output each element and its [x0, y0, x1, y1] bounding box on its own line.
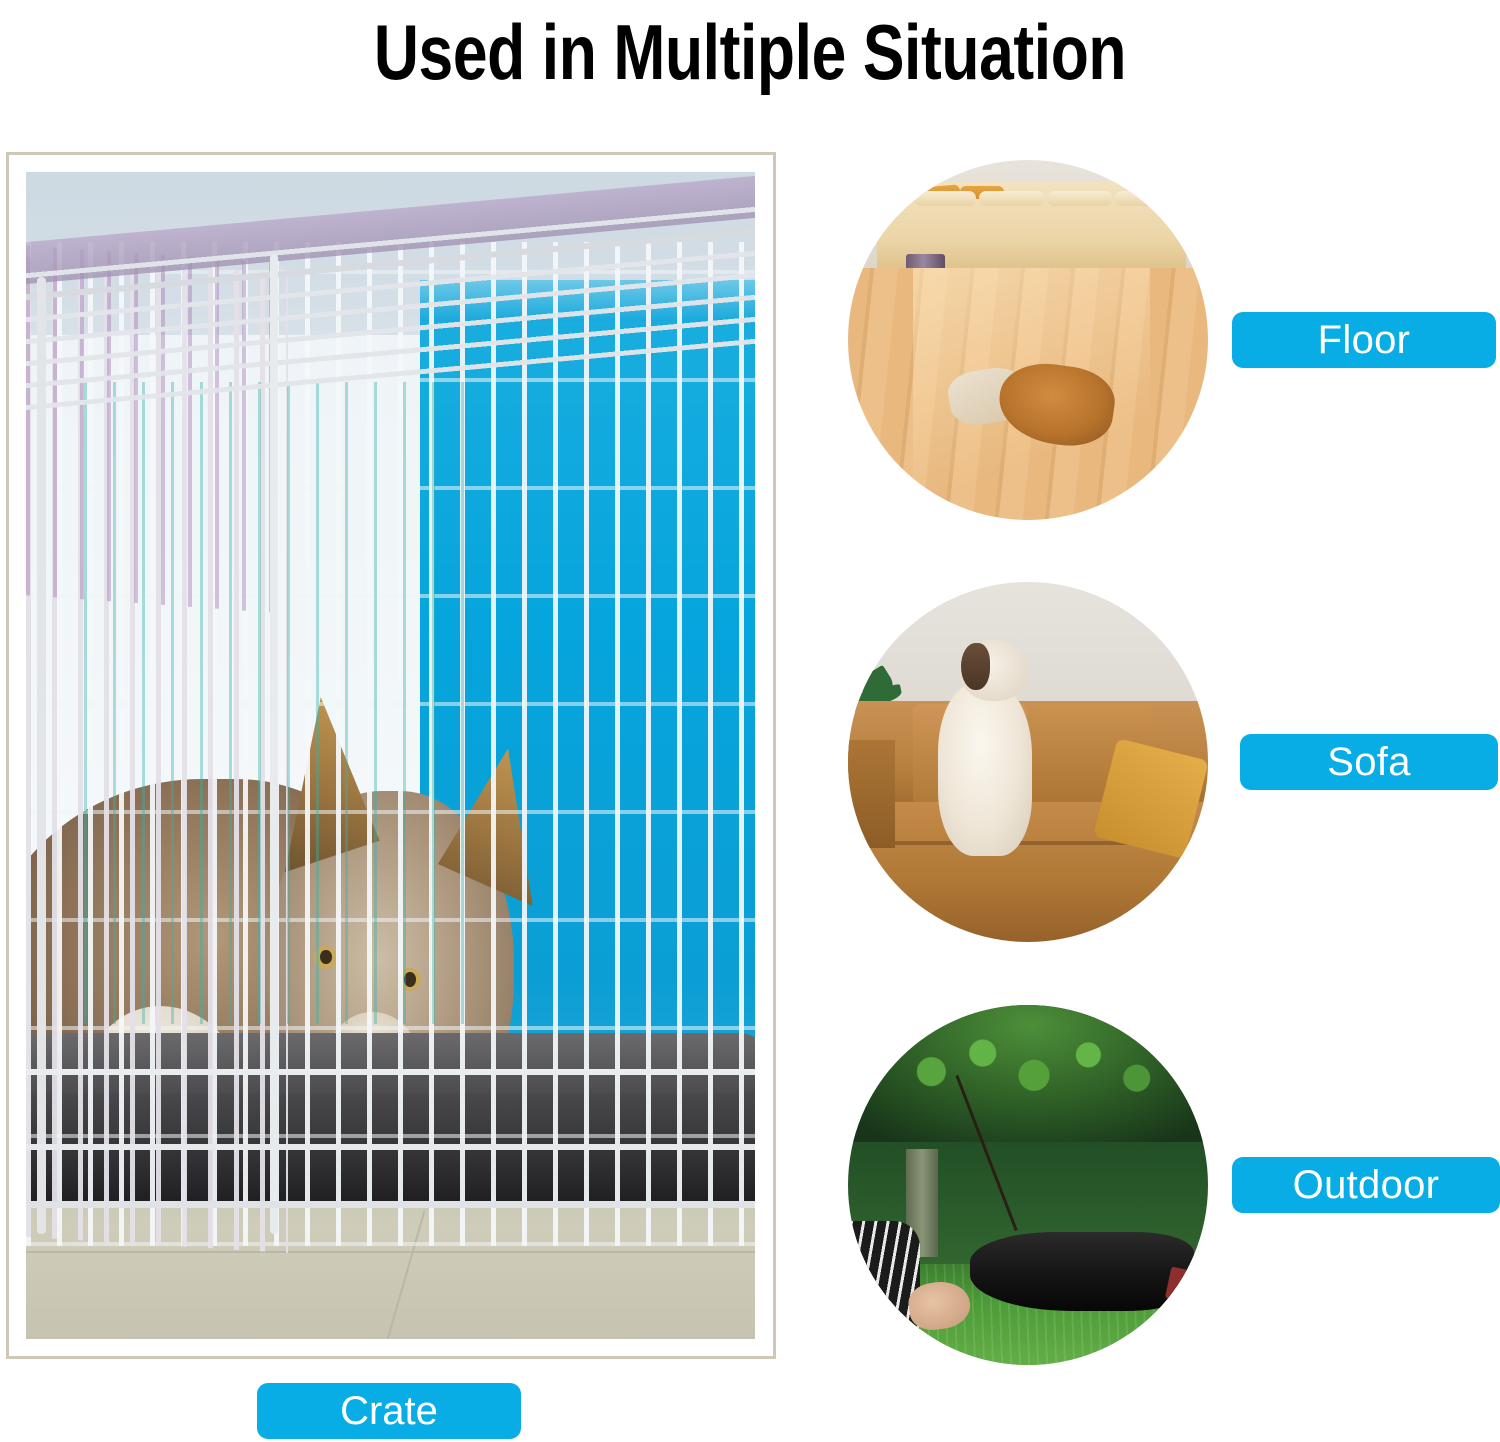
- outdoor-scene-icon: [848, 1005, 1208, 1365]
- crate-rail-middle: [26, 1144, 755, 1150]
- crate-left-post: [37, 277, 46, 1234]
- outdoor-black-dog: [970, 1232, 1193, 1311]
- crate-wire-teal-tint: [84, 382, 478, 1024]
- sofa-armrest: [848, 740, 895, 848]
- sofa-dog-ear: [961, 643, 990, 690]
- floor-cushion-a: [914, 191, 976, 206]
- sofa-scene-icon: [848, 582, 1208, 942]
- crate-rail-upper: [26, 1069, 755, 1075]
- floor-cushion-c: [1047, 191, 1112, 206]
- crate-photo: [26, 172, 755, 1339]
- crate-rail-lower: [26, 1201, 755, 1208]
- product-infographic: Used in Multiple Situation: [0, 0, 1500, 1442]
- crate-door-post: [270, 254, 278, 1234]
- label-badge-floor: Floor: [1232, 312, 1496, 368]
- outdoor-striped-sleeve: [848, 1221, 920, 1343]
- label-badge-outdoor: Outdoor: [1232, 1157, 1500, 1213]
- floor-cushion-b: [979, 191, 1044, 206]
- label-badge-sofa: Sofa: [1240, 734, 1498, 790]
- label-badge-crate: Crate: [257, 1383, 521, 1439]
- floor-cushion-d: [1115, 191, 1168, 206]
- outdoor-leaves: [877, 1027, 1179, 1121]
- floor-scene-icon: [848, 160, 1208, 520]
- sofa-dog-body: [938, 683, 1032, 856]
- crate-photo-frame: [6, 152, 776, 1359]
- page-title: Used in Multiple Situation: [150, 0, 1350, 106]
